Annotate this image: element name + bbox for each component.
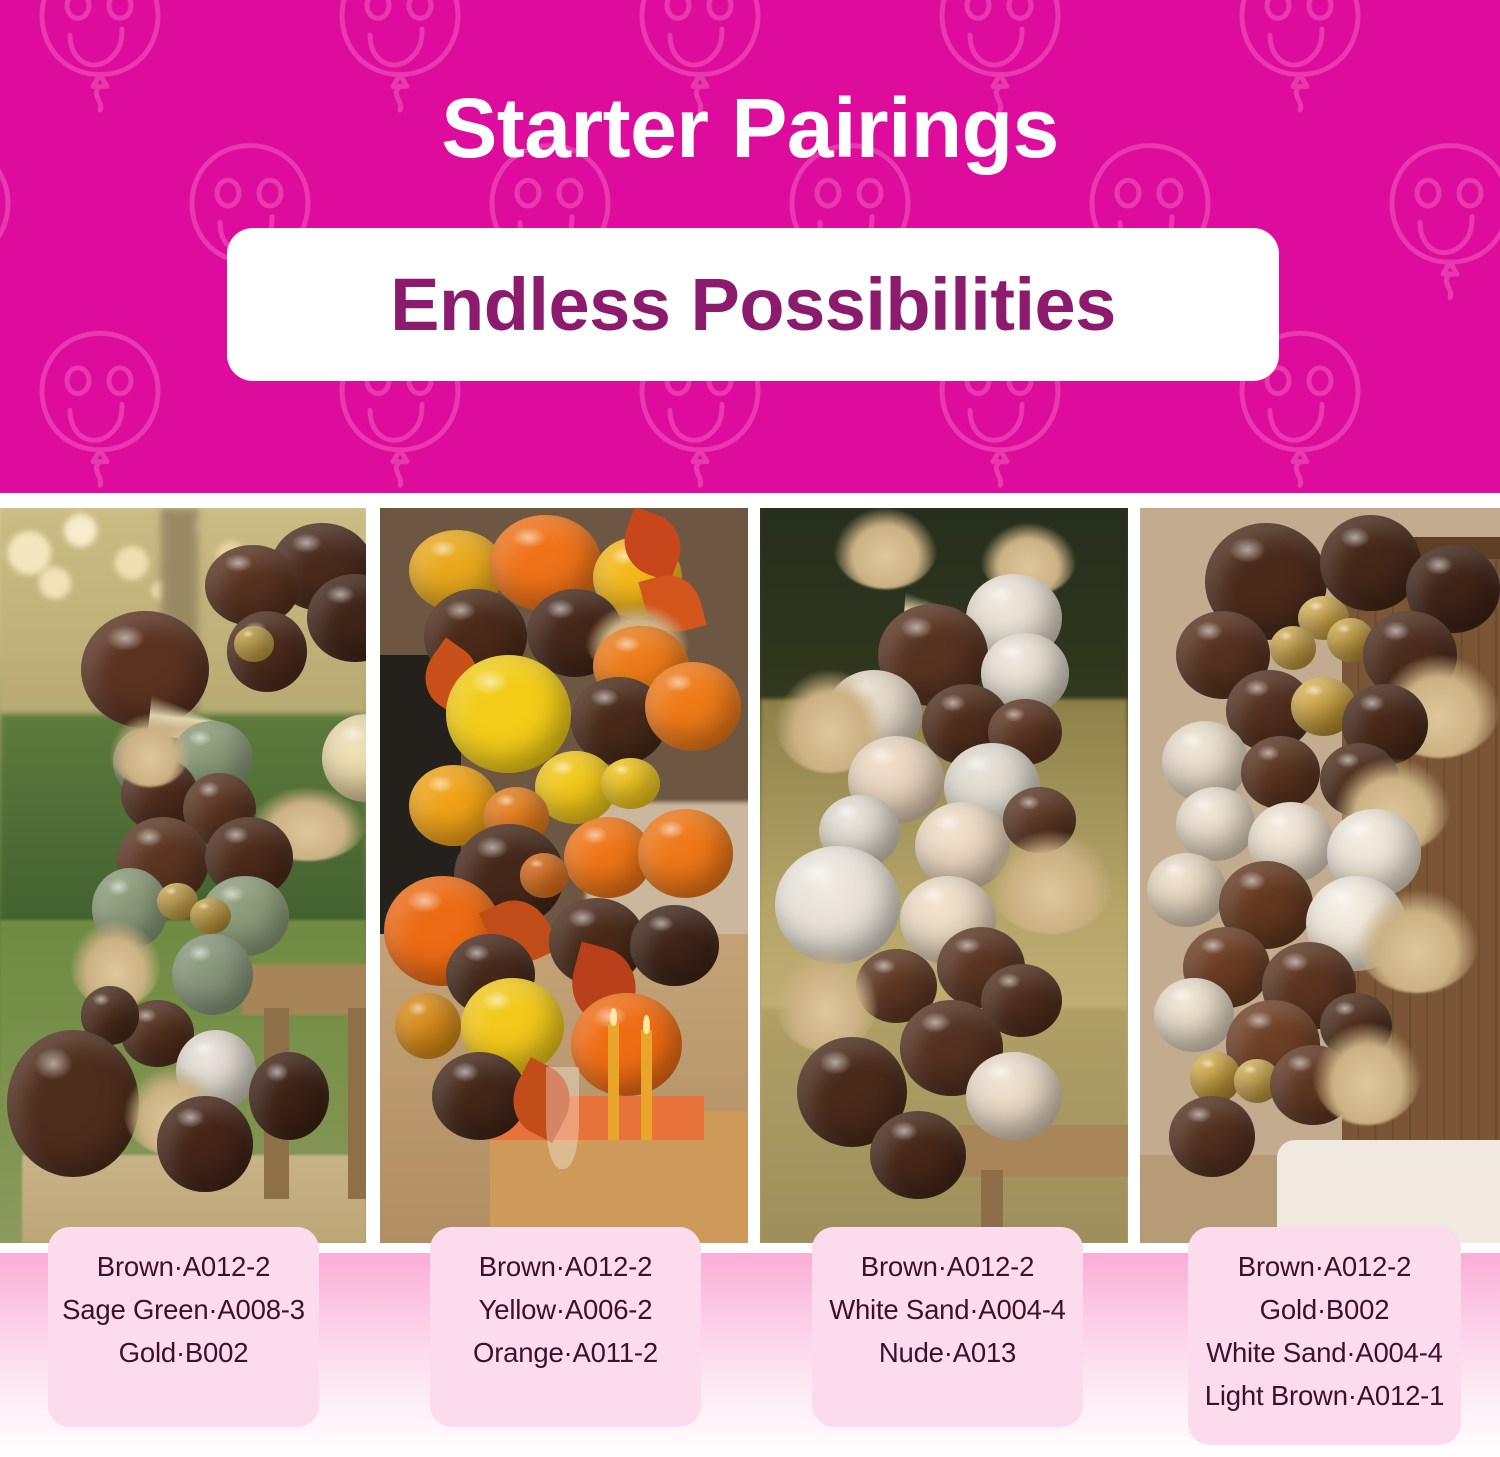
pairing-line: Nude·A013 xyxy=(822,1331,1073,1374)
photo-pairing-3 xyxy=(760,508,1128,1243)
pairing-card-4: Brown·A012-2 Gold·B002 White Sand·A004-4… xyxy=(1188,1227,1461,1445)
pairing-card-3: Brown·A012-2 White Sand·A004-4 Nude·A013 xyxy=(812,1227,1083,1427)
page-title: Starter Pairings xyxy=(0,84,1500,172)
marketing-infographic: Starter Pairings Endless Possibilities xyxy=(0,0,1500,1457)
pairing-line: Orange·A011-2 xyxy=(440,1331,691,1374)
pairing-line: Light Brown·A012-1 xyxy=(1198,1374,1451,1417)
header-banner: Starter Pairings Endless Possibilities xyxy=(0,0,1500,493)
pairing-line: Gold·B002 xyxy=(58,1331,309,1374)
pairing-line: Brown·A012-2 xyxy=(822,1245,1073,1288)
pairing-line: Gold·B002 xyxy=(1198,1288,1451,1331)
photo-pairing-4 xyxy=(1140,508,1500,1243)
pairing-card-2: Brown·A012-2 Yellow·A006-2 Orange·A011-2 xyxy=(430,1227,701,1427)
pairing-card-1: Brown·A012-2 Sage Green·A008-3 Gold·B002 xyxy=(48,1227,319,1427)
photo-strip xyxy=(0,508,1500,1243)
pairing-line: Brown·A012-2 xyxy=(58,1245,309,1288)
photo-pairing-2 xyxy=(380,508,748,1243)
subtitle-pill: Endless Possibilities xyxy=(227,228,1279,381)
pairing-line: White Sand·A004-4 xyxy=(1198,1331,1451,1374)
photo-pairing-1 xyxy=(0,508,366,1243)
pairing-line: Sage Green·A008-3 xyxy=(58,1288,309,1331)
pairing-line: Yellow·A006-2 xyxy=(440,1288,691,1331)
pairing-line: Brown·A012-2 xyxy=(1198,1245,1451,1288)
subtitle-text: Endless Possibilities xyxy=(390,262,1116,347)
pairing-line: White Sand·A004-4 xyxy=(822,1288,1073,1331)
pairing-line: Brown·A012-2 xyxy=(440,1245,691,1288)
